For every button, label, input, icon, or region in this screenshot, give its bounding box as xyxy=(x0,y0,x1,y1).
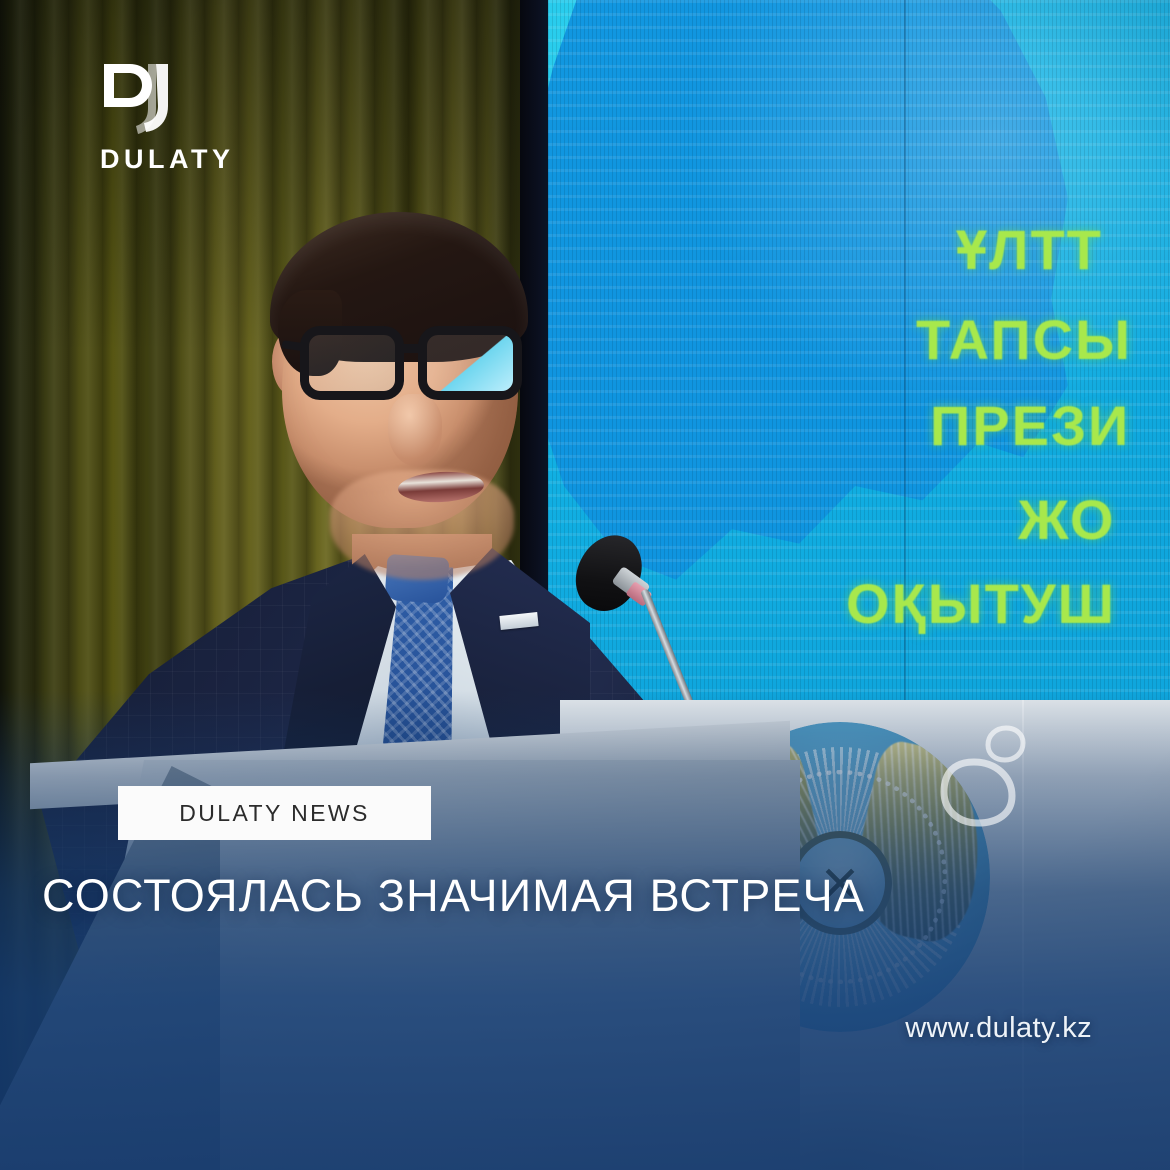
event-photo: ҰЛТТ ТАПСЫ ПРЕЗИ ЖО ОҚЫТУШ xyxy=(0,0,1170,1170)
brand-wordmark: DULATY xyxy=(100,146,280,173)
dulaty-squircle-watermark-icon xyxy=(936,722,1032,828)
dulaty-monogram-icon xyxy=(100,62,184,136)
news-post-card: ҰЛТТ ТАПСЫ ПРЕЗИ ЖО ОҚЫТУШ xyxy=(0,0,1170,1170)
website-url[interactable]: www.dulaty.kz xyxy=(905,1012,1092,1045)
category-badge-label: DULATY NEWS xyxy=(179,800,369,827)
brand-logo[interactable]: DULATY xyxy=(100,62,280,173)
category-badge[interactable]: DULATY NEWS xyxy=(118,786,431,840)
photo-vignette xyxy=(0,0,1170,1170)
headline: СОСТОЯЛАСЬ ЗНАЧИМАЯ ВСТРЕЧА xyxy=(42,872,1062,919)
